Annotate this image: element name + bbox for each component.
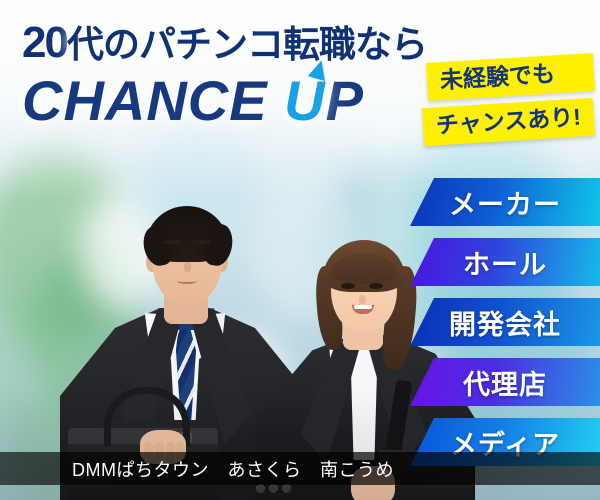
badge-no-experience: 未経験でも [426, 53, 595, 101]
category-label-maker: メーカー [449, 183, 561, 222]
caption-text: DMMぱちタウン あさくら 南こうめ [0, 456, 394, 482]
female-nose [359, 295, 366, 304]
male-mouth [177, 278, 197, 284]
advertisement-banner[interactable]: 20代のパチンコ転職なら CHANCE UP 未経験でも チャンスあり! メーカ… [0, 0, 600, 500]
category-button-list: メーカー ホール 開発会社 代理店 メディア [410, 178, 600, 466]
male-nose [184, 262, 191, 272]
headline-u-letter: U [284, 72, 325, 131]
badge-chance-available: チャンスあり! [422, 98, 595, 147]
male-hair-side-right [203, 222, 236, 268]
male-eye-left [165, 249, 180, 255]
headline-line-1-text: 代のパチンコ転職なら [67, 24, 427, 65]
category-button-hall[interactable]: ホール [410, 238, 600, 286]
category-label-agency: 代理店 [463, 363, 547, 402]
category-button-maker[interactable]: メーカー [410, 178, 600, 226]
female-bangs [331, 254, 397, 284]
headline-p-letter: P [326, 69, 364, 132]
female-eye-left [341, 283, 355, 289]
promo-badges: 未経験でも チャンスあり! [427, 58, 594, 142]
headline-number: 20 [22, 18, 67, 67]
headline-line-1: 20代のパチンコ転職なら [22, 14, 442, 68]
headline-block: 20代のパチンコ転職なら CHANCE UP [22, 14, 442, 131]
category-button-development[interactable]: 開発会社 [410, 298, 600, 346]
female-eye-right [369, 283, 383, 289]
category-label-development: 開発会社 [449, 303, 561, 342]
headline-chance-text: CHANCE [22, 69, 284, 132]
headline-line-2: CHANCE UP [22, 72, 442, 131]
caption-bar: DMMぱちタウン あさくら 南こうめ [0, 452, 600, 485]
category-button-agency[interactable]: 代理店 [410, 358, 600, 406]
category-label-hall: ホール [463, 243, 547, 282]
male-eye-right [195, 249, 210, 255]
